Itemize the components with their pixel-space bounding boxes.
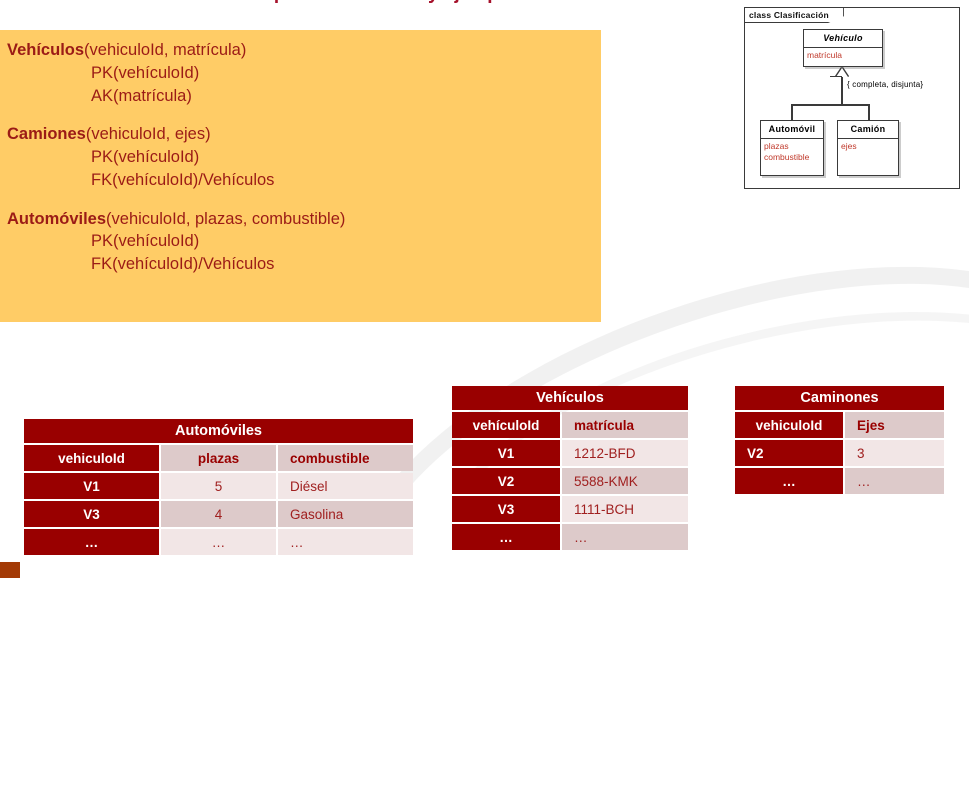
- table-row: V1 5 Diésel: [24, 473, 413, 499]
- table-row: V3 4 Gasolina: [24, 501, 413, 527]
- uml-class-attributes: matrícula: [804, 48, 882, 61]
- table-row: V2 3: [735, 440, 944, 466]
- relation-constraint-ak: AK(matrícula): [91, 85, 601, 108]
- table-row: V1 1212-BFD: [452, 440, 688, 466]
- uml-class-vehiculo: Vehículo matrícula: [803, 29, 883, 67]
- schema-spacer: [0, 192, 601, 208]
- relation-attributes: (vehiculoId, matrícula): [84, 41, 246, 59]
- relation-vehiculos: Vehículos(vehiculoId, matrícula) PK(vehí…: [7, 39, 601, 107]
- column-header-ejes: Ejes: [845, 412, 944, 438]
- schema-spacer: [0, 107, 601, 123]
- relation-constraint-pk: PK(vehículoId): [91, 146, 601, 169]
- table-title-row: Automóviles: [24, 419, 413, 443]
- uml-class-camion: Camión ejes: [837, 120, 899, 176]
- table-header-row: vehiculoId plazas combustible: [24, 445, 413, 471]
- generalization-vertical-line: [841, 77, 843, 104]
- cell-key: V3: [24, 501, 159, 527]
- cell-matricula: …: [562, 524, 688, 550]
- table-row: … …: [452, 524, 688, 550]
- cell-key: V1: [24, 473, 159, 499]
- uml-attribute: plazas: [764, 141, 823, 152]
- cell-key: V1: [452, 440, 560, 466]
- cell-plazas: 5: [161, 473, 276, 499]
- generalization-branch-left: [791, 104, 793, 121]
- uml-class-name: Camión: [838, 121, 898, 139]
- table-header-row: vehículoId matrícula: [452, 412, 688, 438]
- relation-name: Automóviles: [7, 210, 106, 228]
- cell-combustible: Diésel: [278, 473, 413, 499]
- table-title: Caminones: [735, 386, 944, 410]
- cell-key: V3: [452, 496, 560, 522]
- column-header-vehiculoid: vehículoId: [452, 412, 560, 438]
- relation-header: Vehículos(vehiculoId, matrícula): [7, 39, 601, 62]
- relation-constraint-fk: FK(vehículoId)/Vehículos: [91, 169, 601, 192]
- uml-attribute: ejes: [841, 141, 898, 152]
- table-automoviles: Automóviles vehiculoId plazas combustibl…: [22, 417, 415, 557]
- relation-name: Vehículos: [7, 41, 84, 59]
- table-title-row: Vehículos: [452, 386, 688, 410]
- uml-frame-label: class Clasificación: [745, 8, 844, 23]
- table-row: V2 5588-KMK: [452, 468, 688, 494]
- page-title: Esquema relacional y ejemplo: [0, 0, 760, 5]
- uml-attribute: matrícula: [807, 50, 882, 61]
- table-row: V3 1111-BCH: [452, 496, 688, 522]
- uml-class-automovil: Automóvil plazas combustible: [760, 120, 824, 176]
- table-title: Automóviles: [24, 419, 413, 443]
- relation-attributes: (vehiculoId, plazas, combustible): [106, 210, 345, 228]
- relation-camiones: Camiones(vehiculoId, ejes) PK(vehículoId…: [7, 123, 601, 191]
- relation-constraint-pk: PK(vehículoId): [91, 230, 601, 253]
- cell-combustible: …: [278, 529, 413, 555]
- uml-class-name: Vehículo: [804, 30, 882, 48]
- uml-class-name: Automóvil: [761, 121, 823, 139]
- cell-matricula: 1111-BCH: [562, 496, 688, 522]
- cell-plazas: 4: [161, 501, 276, 527]
- relation-header: Camiones(vehiculoId, ejes): [7, 123, 601, 146]
- column-header-plazas: plazas: [161, 445, 276, 471]
- relation-name: Camiones: [7, 125, 86, 143]
- table-vehiculos: Vehículos vehículoId matrícula V1 1212-B…: [450, 384, 690, 552]
- relation-constraint-fk: FK(vehículoId)/Vehículos: [91, 253, 601, 276]
- cell-ejes: …: [845, 468, 944, 494]
- relational-schema-panel: Vehículos(vehiculoId, matrícula) PK(vehí…: [0, 30, 601, 322]
- relation-attributes: (vehiculoId, ejes): [86, 125, 211, 143]
- column-header-combustible: combustible: [278, 445, 413, 471]
- table-row: … …: [735, 468, 944, 494]
- cell-key: V2: [452, 468, 560, 494]
- uml-class-diagram: class Clasificación Vehículo matrícula {…: [744, 7, 960, 189]
- uml-attribute: combustible: [764, 152, 823, 163]
- corner-decoration: [0, 562, 20, 578]
- cell-key: …: [24, 529, 159, 555]
- table-title-row: Caminones: [735, 386, 944, 410]
- cell-matricula: 1212-BFD: [562, 440, 688, 466]
- cell-combustible: Gasolina: [278, 501, 413, 527]
- cell-key: …: [735, 468, 843, 494]
- cell-matricula: 5588-KMK: [562, 468, 688, 494]
- generalization-constraint-label: { completa, disjunta}: [847, 80, 923, 89]
- cell-plazas: …: [161, 529, 276, 555]
- relation-header: Automóviles(vehiculoId, plazas, combusti…: [7, 208, 601, 231]
- cell-key: V2: [735, 440, 843, 466]
- table-title: Vehículos: [452, 386, 688, 410]
- uml-class-attributes: plazas combustible: [761, 139, 823, 163]
- generalization-horizontal-line: [791, 104, 869, 106]
- column-header-matricula: matrícula: [562, 412, 688, 438]
- cell-ejes: 3: [845, 440, 944, 466]
- table-header-row: vehiculoId Ejes: [735, 412, 944, 438]
- table-caminones: Caminones vehiculoId Ejes V2 3 … …: [733, 384, 946, 496]
- relation-automoviles: Automóviles(vehiculoId, plazas, combusti…: [7, 208, 601, 276]
- cell-key: …: [452, 524, 560, 550]
- relation-constraint-pk: PK(vehículoId): [91, 62, 601, 85]
- column-header-vehiculoid: vehiculoId: [24, 445, 159, 471]
- generalization-branch-right: [868, 104, 870, 121]
- table-row: … … …: [24, 529, 413, 555]
- column-header-vehiculoid: vehiculoId: [735, 412, 843, 438]
- uml-class-attributes: ejes: [838, 139, 898, 152]
